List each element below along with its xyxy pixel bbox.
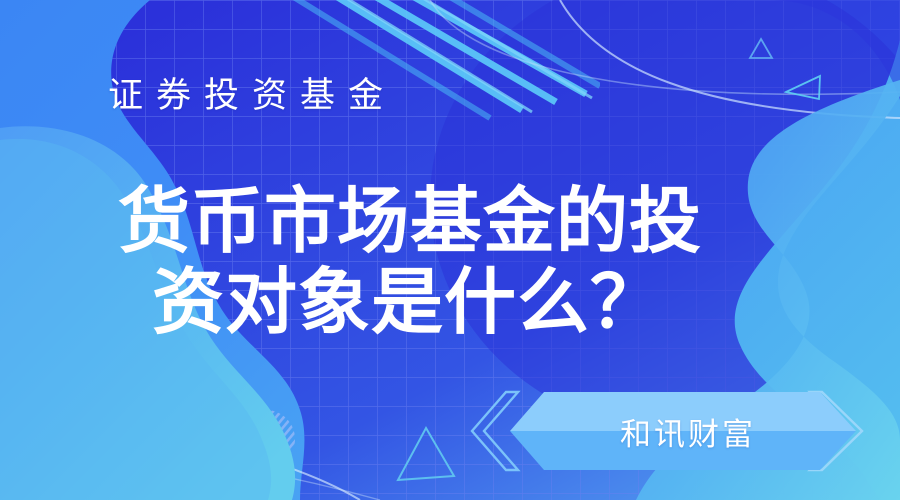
brand-ribbon[interactable]: 和讯财富 — [470, 388, 880, 474]
headline-line-1: 货币市场基金的投 — [118, 182, 758, 263]
page-title: 货币市场基金的投 资对象是什么？ — [118, 182, 758, 343]
headline-line-2: 资对象是什么？ — [118, 263, 758, 344]
category-label: 证券投资基金 — [108, 78, 396, 113]
promo-poster: 证券投资基金 货币市场基金的投 资对象是什么？ 和讯财富 — [0, 0, 900, 500]
